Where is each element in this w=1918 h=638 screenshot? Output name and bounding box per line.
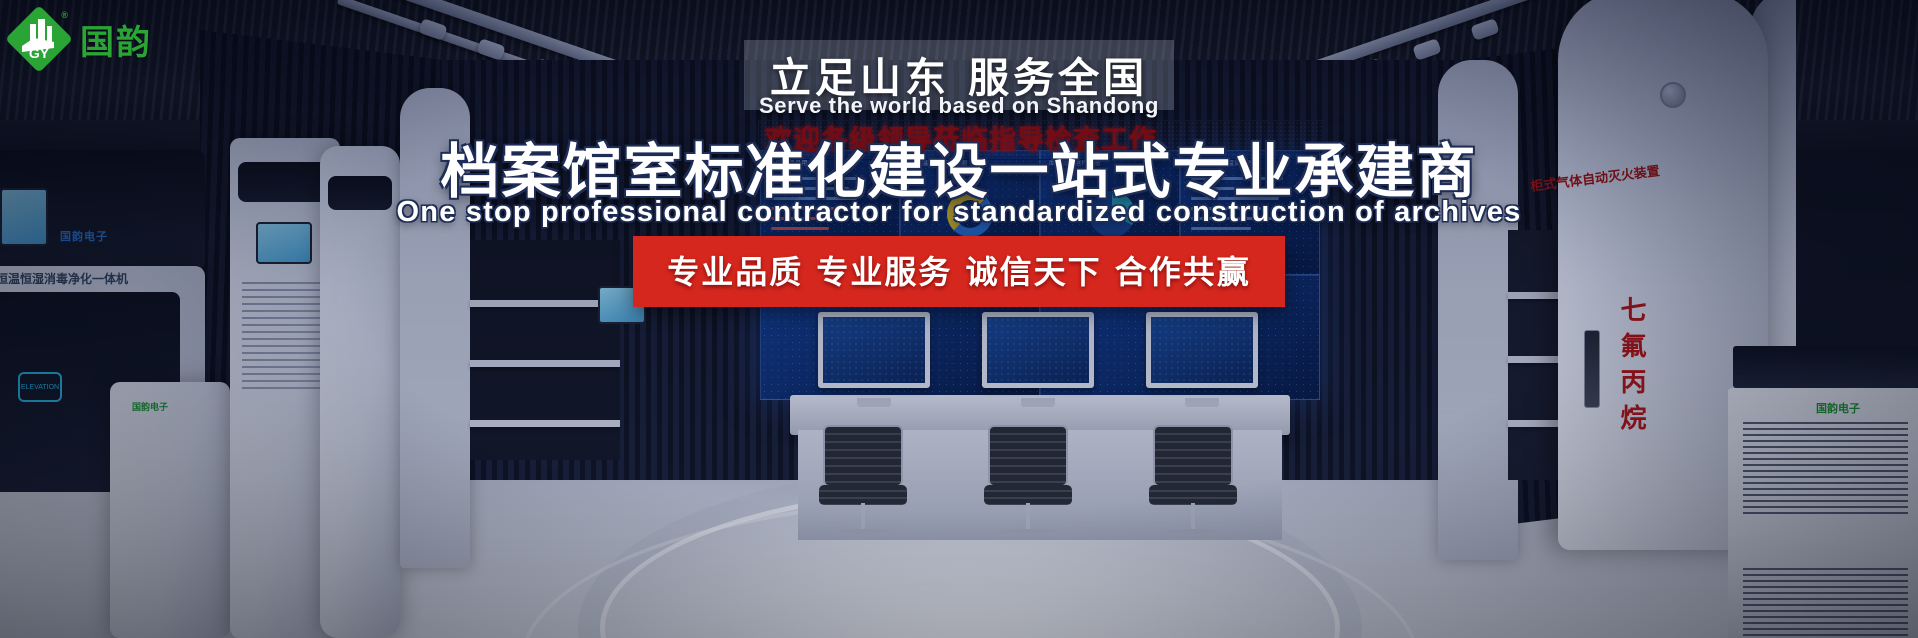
hero-headline-en: One stop professional contractor for sta… (0, 196, 1918, 229)
hero-eyebrow-en: Serve the world based on Shandong (0, 93, 1918, 119)
registered-mark: ® (61, 10, 68, 20)
hero-overlay: GY ® 国韵 立足山东 服务全国 Serve the world based … (0, 0, 1918, 638)
hero-slogan-text: 专业品质 专业服务 诚信天下 合作共赢 (667, 253, 1250, 291)
hero-banner: 单位管理员用户排名 库房温湿度实时监测 库房设备运行状态 33.33% (0, 0, 1918, 638)
hero-slogan-row: 专业品质 专业服务 诚信天下 合作共赢 (0, 236, 1918, 307)
hero-slogan-bar[interactable]: 专业品质 专业服务 诚信天下 合作共赢 (633, 236, 1284, 307)
